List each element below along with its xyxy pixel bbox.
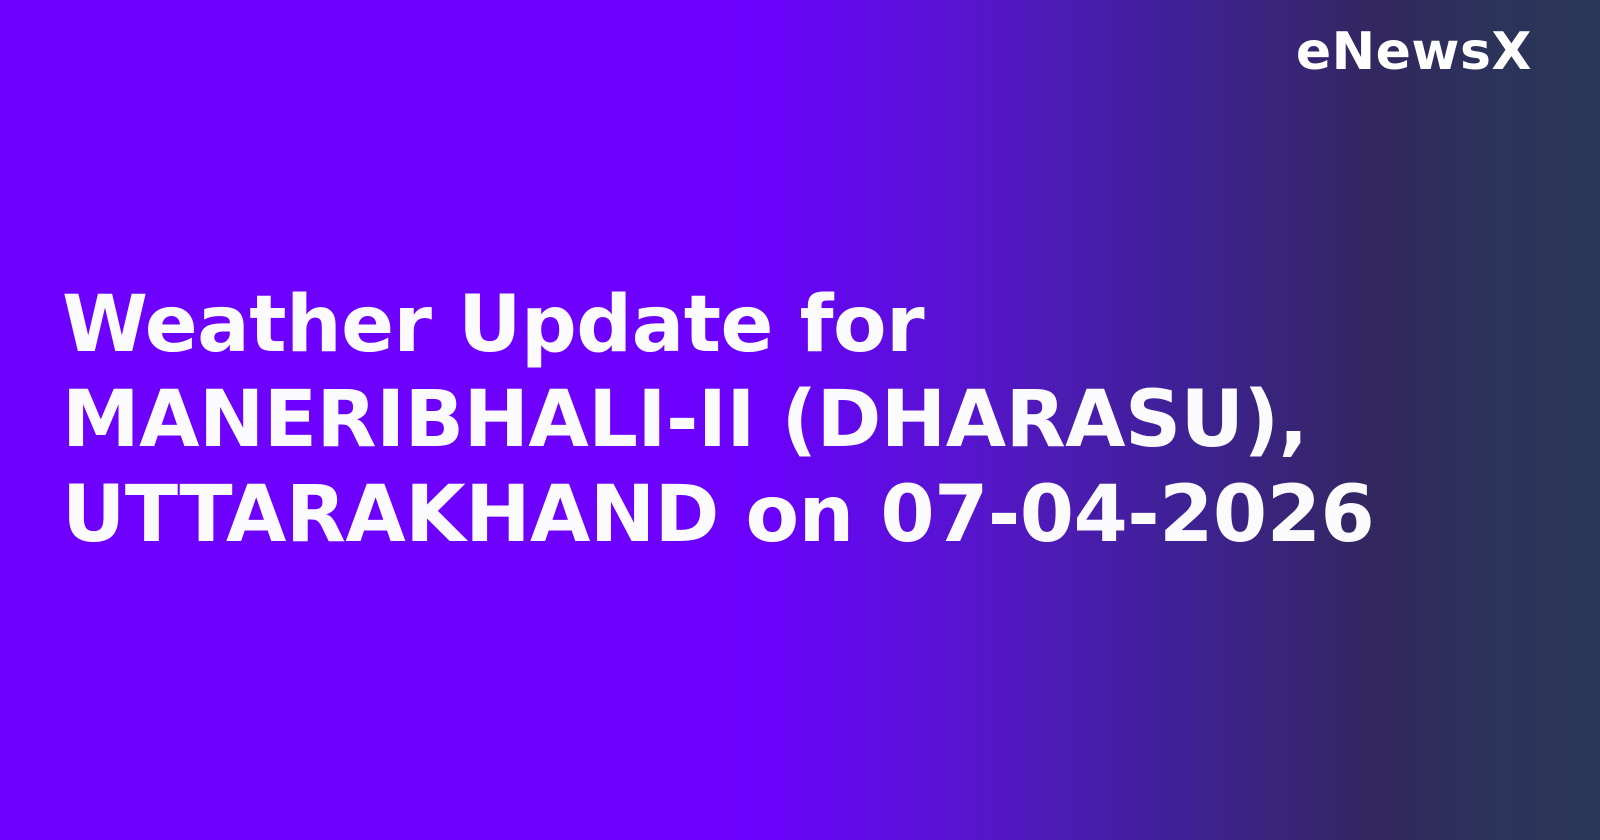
headline-line-2: MANERIBHALI-II (DHARASU), — [62, 373, 1510, 468]
headline-line-3: UTTARAKHAND on 07-04-2026 — [62, 468, 1510, 563]
page-title: Weather Update for MANERIBHALI-II (DHARA… — [62, 278, 1510, 563]
headline-block: Weather Update for MANERIBHALI-II (DHARA… — [62, 0, 1510, 840]
headline-line-1: Weather Update for — [62, 278, 1510, 373]
news-share-banner: eNewsX Weather Update for MANERIBHALI-II… — [0, 0, 1600, 840]
